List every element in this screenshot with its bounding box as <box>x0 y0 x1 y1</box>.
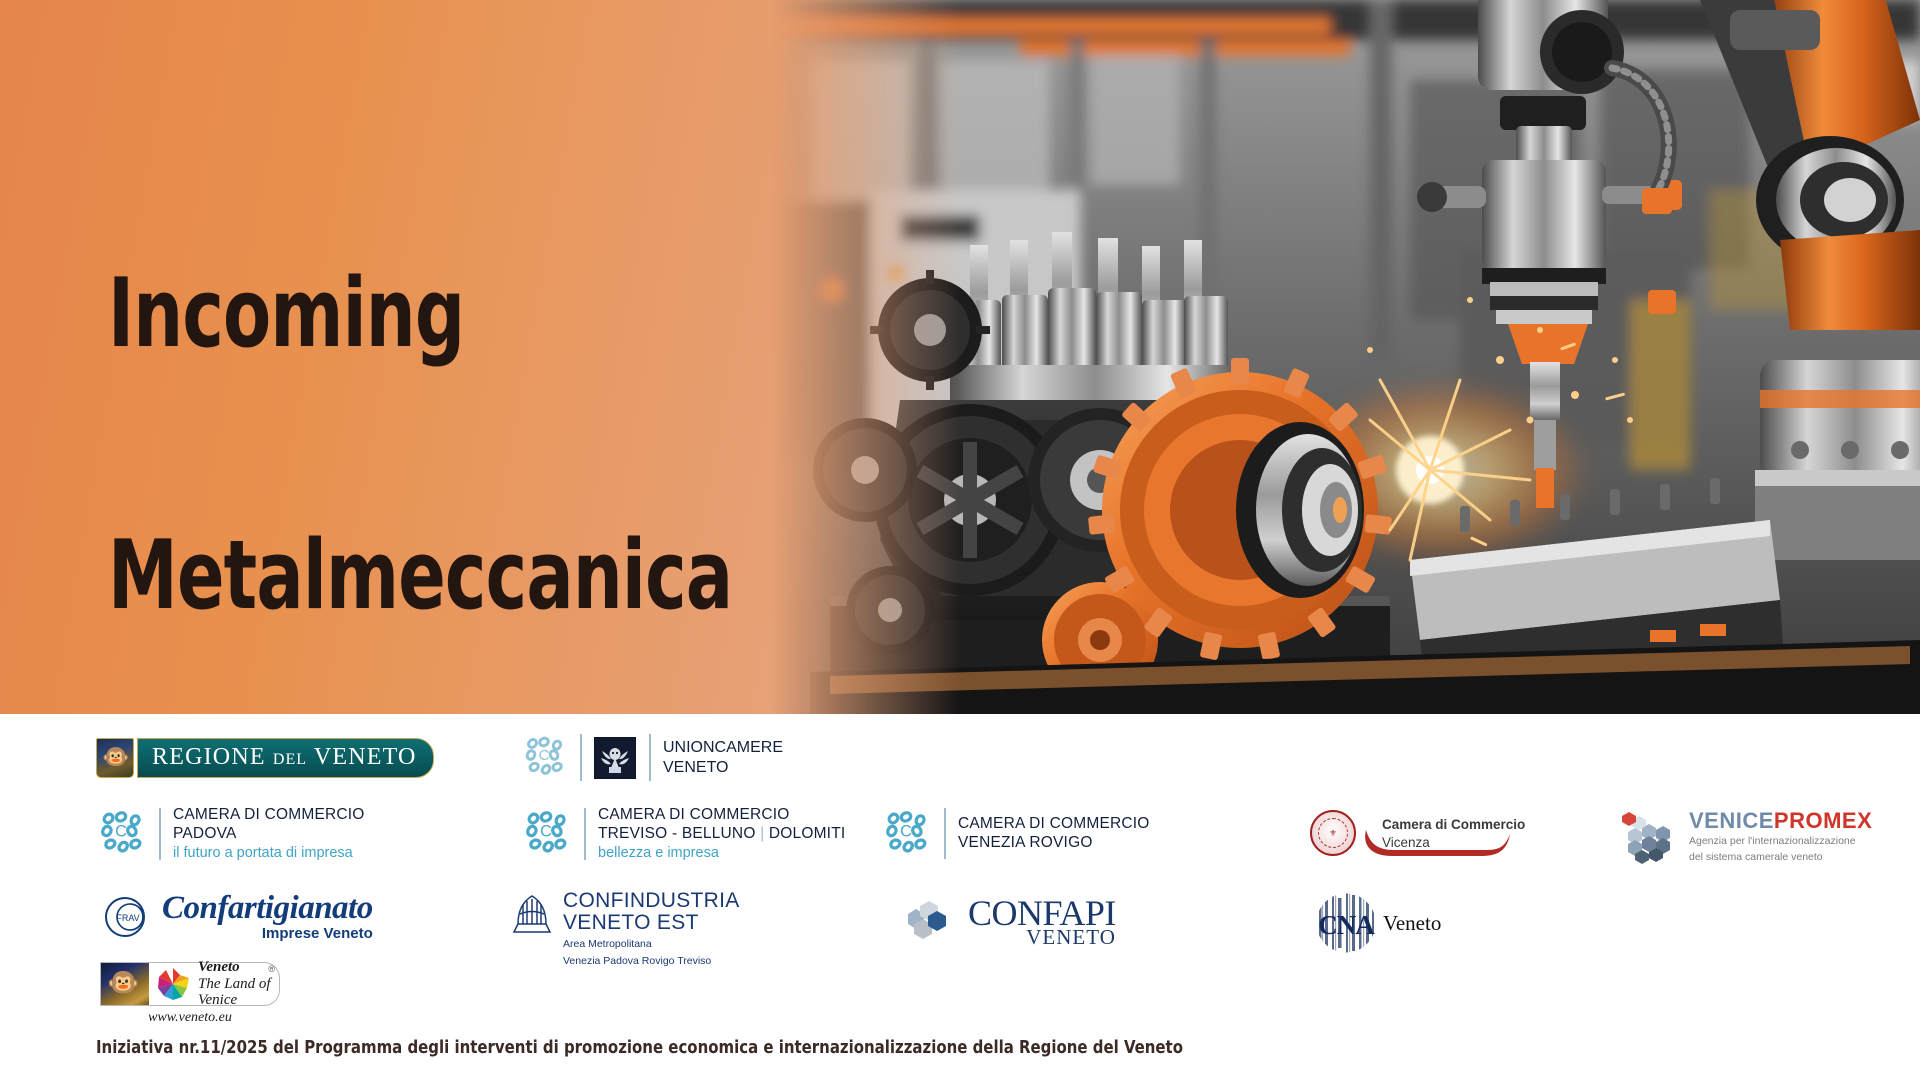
industrial-machinery-illustration <box>770 0 1920 714</box>
vicenza-line-2: Vicenza <box>1382 834 1525 852</box>
venicepromex-globe-icon <box>1618 808 1680 866</box>
confartigianato-subtitle: Imprese Veneto <box>162 926 373 943</box>
cc-treviso-line-1: CAMERA DI COMMERCIO <box>598 806 845 825</box>
logo-cna-veneto: CNA Veneto <box>1315 892 1441 954</box>
logo-divider <box>584 808 586 860</box>
logo-venicepromex: VENICEPROMEX Agenzia per l'internazional… <box>1618 808 1872 866</box>
headline-line-1: Incoming <box>108 271 750 358</box>
cc-treviso-line-2: TREVISO - BELLUNO | DOLOMITI <box>598 825 845 844</box>
logo-confindustria-veneto-est: CONFINDUSTRIA VENETO EST Area Metropolit… <box>510 890 740 969</box>
sponsor-logo-band: 🐵 REGIONE DEL VENETO <box>0 714 1920 1080</box>
cc-venezia-label: CAMERA DI COMMERCIO VENEZIA ROVIGO <box>958 815 1150 853</box>
cc-treviso-tagline: bellezza e impresa <box>598 844 845 862</box>
logo-divider <box>159 808 161 860</box>
logo-divider <box>944 808 946 859</box>
logo-row-1: 🐵 REGIONE DEL VENETO <box>96 732 783 783</box>
logo-confartigianato-imprese-veneto: FRAV Confartigianato Imprese Veneto <box>104 892 373 943</box>
confapi-hexagons-icon <box>900 896 964 948</box>
cna-striped-circle-icon: CNA <box>1315 892 1377 954</box>
cc-padova-tagline: il futuro a portata di impresa <box>173 844 365 862</box>
cc-padova-label: CAMERA DI COMMERCIO PADOVA il futuro a p… <box>173 806 365 862</box>
regione-veneto-plate: REGIONE DEL VENETO <box>137 738 434 778</box>
unioncamere-lion-emblem-icon <box>594 737 636 779</box>
veneto-land-line-1: Veneto <box>198 959 279 976</box>
headline-line-2: Metalmeccanica <box>108 533 750 620</box>
venicepromex-wordmark: VENICEPROMEX <box>1689 810 1872 832</box>
cc-venezia-line-2: VENEZIA ROVIGO <box>958 834 1150 853</box>
svg-text:C: C <box>540 823 552 841</box>
vicenza-seal-icon: ⚜ <box>1310 810 1356 856</box>
logo-camera-commercio-vicenza: ⚜ Camera di Commercio Vicenza <box>1310 806 1520 862</box>
hero-industrial-photo <box>770 0 1920 714</box>
camera-commercio-swirl-icon: C <box>881 806 931 861</box>
veneto-lion-photo: 🐵 <box>101 963 149 1005</box>
logo-veneto-land-of-venice: 🐵 Veneto The Land of Venice ® <box>100 962 280 1026</box>
confindustria-emblem-icon <box>510 892 554 936</box>
logo-regione-del-veneto: 🐵 REGIONE DEL VENETO <box>96 738 471 778</box>
svg-text:C: C <box>539 747 550 764</box>
cna-wordmark: CNA <box>1315 910 1377 941</box>
logo-camera-commercio-padova: C CAMERA DI COMMERCIO PADOVA il futuro a… <box>96 806 496 862</box>
logo-row-2: C CAMERA DI COMMERCIO PADOVA il futuro a… <box>96 806 1191 862</box>
svg-text:FRAV: FRAV <box>116 913 139 923</box>
logo-divider <box>580 734 582 781</box>
logo-camera-commercio-treviso-belluno: C CAMERA DI COMMERCIO TREVISO - BELLUNO … <box>521 806 856 862</box>
frav-circle-icon: FRAV <box>104 895 154 939</box>
confindustria-line-2: VENETO EST <box>563 912 740 934</box>
cc-padova-line-2: PADOVA <box>173 825 365 844</box>
cc-treviso-label: CAMERA DI COMMERCIO TREVISO - BELLUNO | … <box>598 806 845 862</box>
cc-venezia-line-1: CAMERA DI COMMERCIO <box>958 815 1150 834</box>
unioncamere-label: UNIONCAMERE VENETO <box>663 738 783 778</box>
veneto-pinwheel-star-icon <box>156 967 190 1001</box>
camera-commercio-swirl-icon: C <box>521 806 571 861</box>
cc-padova-line-1: CAMERA DI COMMERCIO <box>173 806 365 825</box>
svg-text:C: C <box>900 823 912 841</box>
logo-camera-commercio-venezia-rovigo: C CAMERA DI COMMERCIO VENEZIA ROVIGO <box>881 806 1191 861</box>
confindustria-tagline-2: Venezia Padova Rovigo Treviso <box>563 955 740 969</box>
vicenza-seal-inner: ⚜ <box>1318 818 1348 848</box>
unioncamere-line-2: VENETO <box>663 758 783 778</box>
registered-trademark-icon: ® <box>268 964 275 974</box>
confartigianato-wordmark: Confartigianato <box>162 892 373 925</box>
veneto-lion-shield-icon: 🐵 <box>96 738 134 778</box>
confindustria-tagline-1: Area Metropolitana <box>563 938 740 952</box>
unioncamere-line-1: UNIONCAMERE <box>663 738 783 758</box>
cna-subtitle: Veneto <box>1383 911 1441 936</box>
confindustria-line-1: CONFINDUSTRIA <box>563 890 740 912</box>
hero-banner: Incoming Metalmeccanica e Chimica Incont… <box>0 0 1920 714</box>
winged-lion-glyph: 🐵 <box>102 746 129 768</box>
vicenza-label: Camera di Commercio Vicenza <box>1382 816 1525 851</box>
venicepromex-tagline-2: del sistema camerale veneto <box>1689 851 1872 864</box>
regione-veneto-wordmark: REGIONE DEL VENETO <box>152 744 417 771</box>
veneto-land-line-2: The Land of Venice <box>198 976 279 1010</box>
page-title: Incoming Metalmeccanica e Chimica <box>108 96 750 714</box>
logo-unioncamere-veneto: C <box>521 732 783 783</box>
venicepromex-tagline-1: Agenzia per l'internazionalizzazione <box>1689 835 1872 848</box>
veneto-land-label: Veneto The Land of Venice <box>198 959 279 1009</box>
veneto-website-url: www.veneto.eu <box>100 1010 280 1026</box>
hero-text-block: Incoming Metalmeccanica e Chimica Incont… <box>108 96 891 714</box>
svg-text:C: C <box>115 823 127 841</box>
camera-commercio-swirl-icon: C <box>96 806 146 861</box>
initiative-footnote: Iniziativa nr.11/2025 del Programma degl… <box>96 1038 1183 1058</box>
camera-commercio-swirl-icon: C <box>521 732 567 783</box>
logo-confapi-veneto: CONFAPI VENETO <box>900 896 1116 948</box>
vicenza-line-1: Camera di Commercio <box>1382 816 1525 834</box>
winged-lion-glyph: 🐵 <box>107 969 139 995</box>
logo-divider-2 <box>649 734 651 781</box>
